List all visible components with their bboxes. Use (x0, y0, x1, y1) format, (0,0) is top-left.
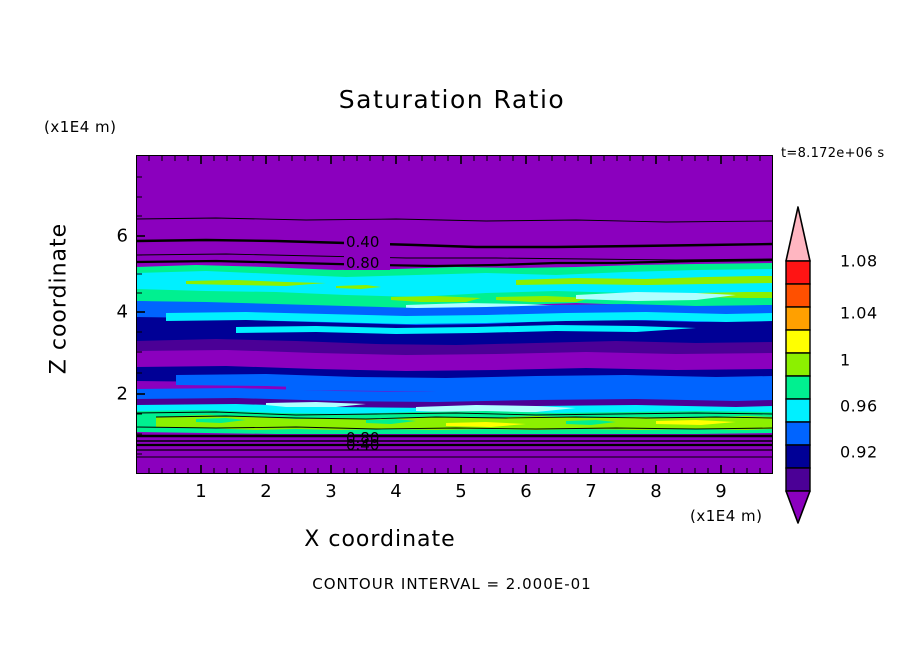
colorbar-band-0 (786, 261, 810, 284)
chart-title: Saturation Ratio (0, 85, 904, 114)
colorbar-band-3 (786, 330, 810, 353)
y-tick-4: 4 (98, 302, 128, 323)
y-tick-6: 6 (98, 226, 128, 247)
colorbar-tick-096: 0.96 (840, 397, 878, 416)
colorbar-band-2 (786, 307, 810, 330)
colorbar-extend-min (786, 491, 810, 523)
colorbar-band-8 (786, 445, 810, 468)
colorbar-tick-1: 1 (840, 351, 851, 370)
x-tick-4: 4 (381, 481, 411, 502)
colorbar-band-4 (786, 353, 810, 376)
colorbar-band-7 (786, 422, 810, 445)
y-tick-2: 2 (98, 384, 128, 405)
x-tick-7: 7 (576, 481, 606, 502)
colorbar-tick-092: 0.92 (840, 443, 878, 462)
contour-label-040-upper: 0.40 (346, 233, 379, 251)
contour-interval-caption: CONTOUR INTERVAL = 2.000E-01 (0, 575, 904, 593)
colorbar-band-9 (786, 468, 810, 491)
y-tick-labels: 6 4 2 (96, 0, 128, 654)
contour-label-040-lower: 0.40 (346, 436, 379, 454)
x-axis-label: X coordinate (0, 527, 760, 552)
x-tick-8: 8 (641, 481, 671, 502)
x-tick-2: 2 (251, 481, 281, 502)
colorbar (781, 205, 815, 525)
y-axis-label: Z coordinate (47, 209, 72, 389)
contour-label-080-upper: 0.80 (346, 254, 379, 272)
colorbar-tick-108: 1.08 (840, 252, 878, 271)
colorbar-band-5 (786, 376, 810, 399)
colorbar-band-6 (786, 399, 810, 422)
x-tick-6: 6 (511, 481, 541, 502)
x-tick-labels: 1 2 3 4 5 6 7 8 9 (0, 481, 904, 511)
colorbar-band-1 (786, 284, 810, 307)
x-tick-9: 9 (706, 481, 736, 502)
colorbar-tick-104: 1.04 (840, 304, 878, 323)
x-tick-5: 5 (446, 481, 476, 502)
x-tick-3: 3 (316, 481, 346, 502)
x-tick-1: 1 (186, 481, 216, 502)
x-axis-unit-label: (x1E4 m) (690, 507, 763, 525)
colorbar-extend-max (786, 207, 810, 261)
colorbar-tick-labels: 1.08 1.04 1 0.96 0.92 (812, 0, 902, 654)
contour-plot: 0.40 0.80 0.80 0.40 (136, 155, 773, 474)
